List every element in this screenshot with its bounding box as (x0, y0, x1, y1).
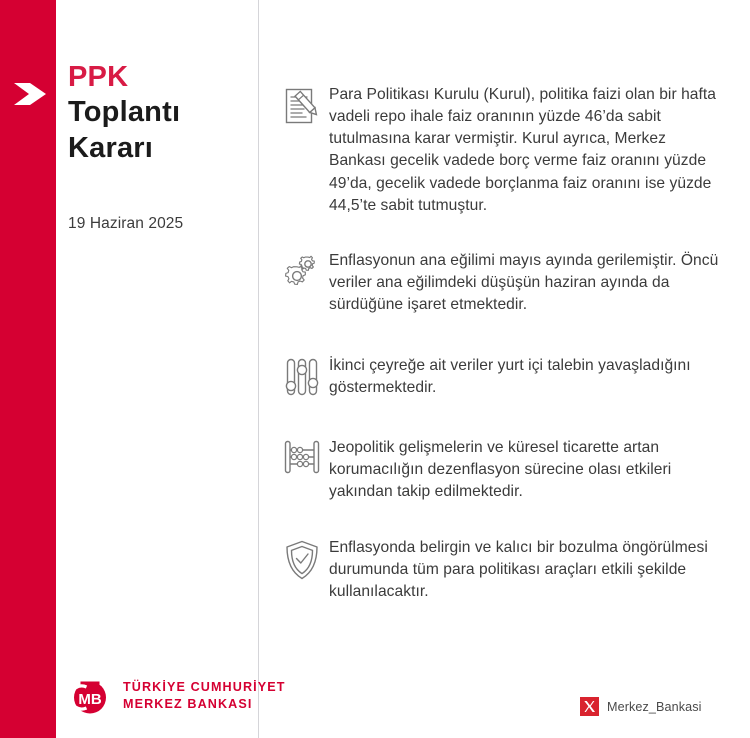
content-column: Para Politikası Kurulu (Kurul), politika… (259, 0, 750, 738)
meeting-date: 19 Haziran 2025 (68, 215, 183, 233)
list-item: Jeopolitik gelişmelerin ve küresel ticar… (275, 437, 719, 503)
tcmb-logo-icon: MB (66, 672, 114, 720)
social-handle-text[interactable]: Merkez_Bankasi (607, 700, 702, 714)
list-item-text: Para Politikası Kurulu (Kurul), politika… (329, 84, 719, 217)
title-line-2: Kararı (68, 131, 258, 166)
sliders-icon (275, 355, 329, 397)
list-item-text: Jeopolitik gelişmelerin ve küresel ticar… (329, 437, 719, 503)
title-column: PPK Toplantı Kararı 19 Haziran 2025 (56, 0, 259, 738)
svg-text:MB: MB (78, 691, 101, 708)
social-handle-group[interactable]: Merkez_Bankasi (580, 697, 702, 716)
list-item: Enflasyonun ana eğilimi mayıs ayında ger… (275, 250, 719, 316)
list-item: İkinci çeyreğe ait veriler yurt içi tale… (275, 355, 719, 399)
tcmb-logo-line-1: TÜRKİYE CUMHURİYET (123, 679, 286, 696)
infographic-page: PPK Toplantı Kararı 19 Haziran 2025 (0, 0, 750, 738)
list-item: Para Politikası Kurulu (Kurul), politika… (275, 84, 719, 217)
list-item-text: Enflasyonun ana eğilimi mayıs ayında ger… (329, 250, 719, 316)
list-item-text: İkinci çeyreğe ait veriler yurt içi tale… (329, 355, 719, 399)
chevron-right-icon (8, 72, 52, 116)
document-pencil-icon (275, 84, 329, 128)
shield-check-icon (275, 537, 329, 581)
page-title: PPK Toplantı Kararı (68, 60, 258, 166)
tcmb-logo-text: TÜRKİYE CUMHURİYET MERKEZ BANKASI (123, 679, 286, 712)
gears-icon (275, 250, 329, 292)
tcmb-logo: MB TÜRKİYE CUMHURİYET MERKEZ BANKASI (66, 672, 286, 720)
title-accent: PPK (68, 60, 258, 95)
list-item: Enflasyonda belirgin ve kalıcı bir bozul… (275, 537, 719, 603)
tcmb-logo-line-2: MERKEZ BANKASI (123, 696, 286, 713)
title-line-1: Toplantı (68, 95, 258, 130)
x-twitter-icon[interactable] (580, 697, 599, 716)
abacus-icon (275, 437, 329, 475)
list-item-text: Enflasyonda belirgin ve kalıcı bir bozul… (329, 537, 719, 603)
left-accent-band (0, 0, 56, 738)
